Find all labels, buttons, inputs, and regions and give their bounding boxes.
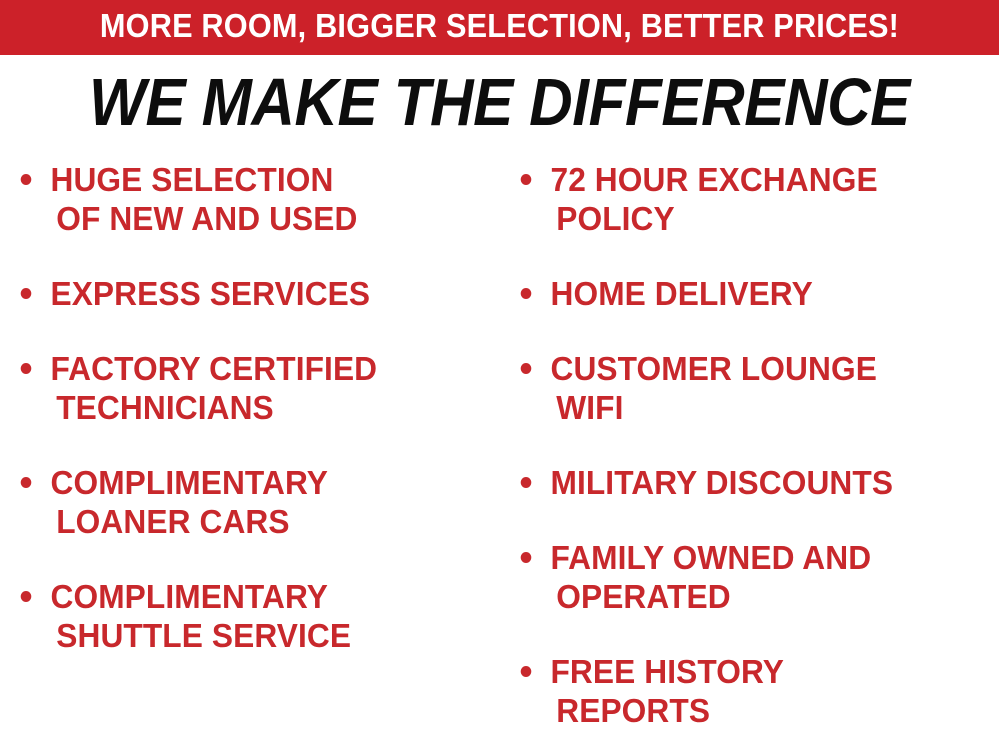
list-item: FACTORY CERTIFIEDTECHNICIANS bbox=[14, 349, 475, 427]
bullet-dot-icon bbox=[21, 363, 32, 374]
list-item-line1: 72 HOUR EXCHANGE bbox=[550, 161, 877, 198]
list-item-line1: MILITARY DISCOUNTS bbox=[550, 464, 893, 501]
list-item-line1: COMPLIMENTARY bbox=[50, 464, 328, 501]
page-headline: WE MAKE THE DIFFERENCE bbox=[50, 64, 949, 142]
benefits-column-right: 72 HOUR EXCHANGEPOLICY HOME DELIVERY CUS… bbox=[514, 160, 994, 692]
benefits-column-left: HUGE SELECTIONOF NEW AND USED EXPRESS SE… bbox=[14, 160, 494, 692]
list-item: COMPLIMENTARYSHUTTLE SERVICE bbox=[14, 577, 475, 655]
list-item-line1: CUSTOMER LOUNGE bbox=[550, 350, 876, 387]
list-item: COMPLIMENTARYLOANER CARS bbox=[14, 463, 475, 541]
bullet-dot-icon bbox=[521, 477, 532, 488]
list-item-line1: EXPRESS SERVICES bbox=[50, 275, 370, 312]
list-item: FAMILY OWNED ANDOPERATED bbox=[514, 538, 975, 616]
list-item-line1: HUGE SELECTION bbox=[50, 161, 333, 198]
list-item-line1: HOME DELIVERY bbox=[550, 275, 812, 312]
bullet-dot-icon bbox=[521, 363, 532, 374]
list-item: EXPRESS SERVICES bbox=[14, 274, 475, 313]
bullet-dot-icon bbox=[21, 591, 32, 602]
promo-banner: MORE ROOM, BIGGER SELECTION, BETTER PRIC… bbox=[0, 0, 999, 55]
list-item-line2: REPORTS bbox=[550, 691, 974, 730]
list-item-line2: TECHNICIANS bbox=[50, 388, 474, 427]
bullet-dot-icon bbox=[521, 552, 532, 563]
list-item-line2: WIFI bbox=[550, 388, 974, 427]
list-item-line2: POLICY bbox=[550, 199, 974, 238]
list-item: 72 HOUR EXCHANGEPOLICY bbox=[514, 160, 975, 238]
list-item-line1: FREE HISTORY bbox=[550, 653, 784, 690]
list-item: HUGE SELECTIONOF NEW AND USED bbox=[14, 160, 475, 238]
list-item: HOME DELIVERY bbox=[514, 274, 975, 313]
benefits-columns: HUGE SELECTIONOF NEW AND USED EXPRESS SE… bbox=[0, 160, 999, 692]
list-item-line2: OPERATED bbox=[550, 577, 974, 616]
list-item-line2: OF NEW AND USED bbox=[50, 199, 474, 238]
bullet-dot-icon bbox=[21, 288, 32, 299]
list-item: CUSTOMER LOUNGEWIFI bbox=[514, 349, 975, 427]
list-item-line1: FAMILY OWNED AND bbox=[550, 539, 871, 576]
list-item-line1: FACTORY CERTIFIED bbox=[50, 350, 377, 387]
bullet-dot-icon bbox=[521, 288, 532, 299]
list-item-line2: SHUTTLE SERVICE bbox=[50, 616, 474, 655]
bullet-dot-icon bbox=[21, 477, 32, 488]
promo-banner-text: MORE ROOM, BIGGER SELECTION, BETTER PRIC… bbox=[35, 0, 964, 55]
list-item-line2: LOANER CARS bbox=[50, 502, 474, 541]
list-item: FREE HISTORYREPORTS bbox=[514, 652, 975, 730]
list-item-line1: COMPLIMENTARY bbox=[50, 578, 328, 615]
bullet-dot-icon bbox=[21, 174, 32, 185]
bullet-dot-icon bbox=[521, 666, 532, 677]
list-item: MILITARY DISCOUNTS bbox=[514, 463, 975, 502]
bullet-dot-icon bbox=[521, 174, 532, 185]
